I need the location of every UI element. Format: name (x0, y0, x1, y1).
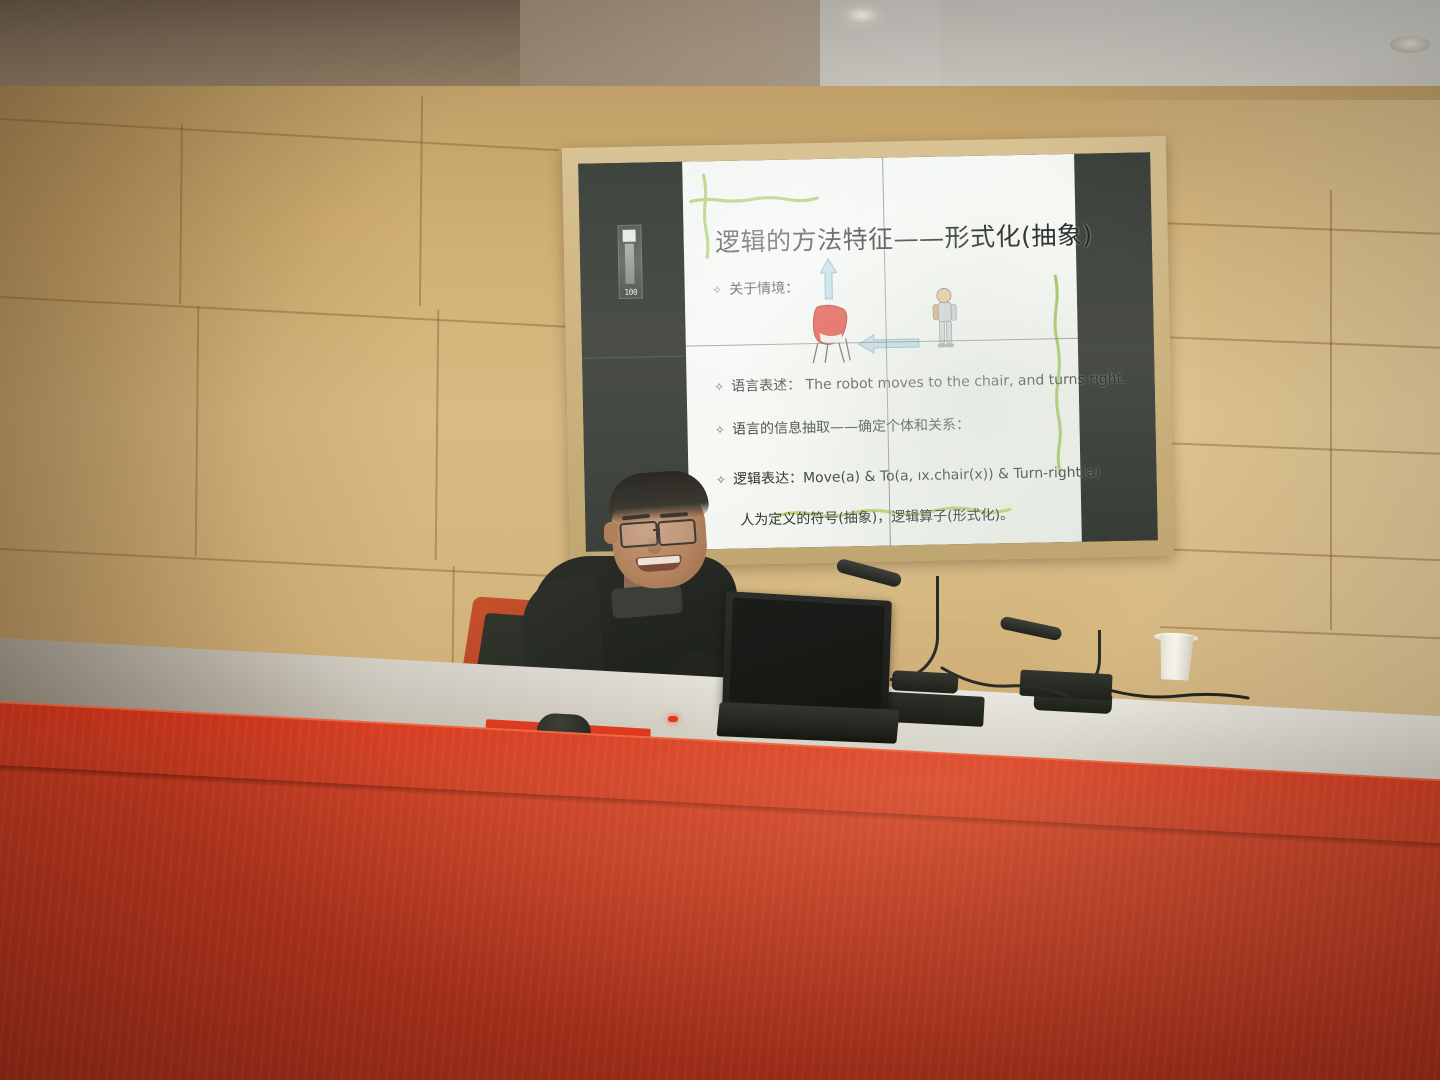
slide-sub-line: 人为定义的符号(抽象)，逻辑算子(形式化)。 (740, 504, 1014, 529)
microphone-base (892, 670, 959, 693)
microphone-right[interactable] (1000, 616, 1120, 716)
screen-bezel-right (1074, 152, 1158, 541)
slide-bullet-3-text: 语言的信息抽取——确定个体和关系： (732, 417, 970, 438)
presenter-nose (648, 536, 661, 554)
slide-bullet-1-text: 关于情境： (729, 281, 799, 298)
bullet-marker-icon: ✧ (715, 423, 725, 437)
presenter-ear (604, 522, 618, 544)
photo-scene: 100 逻辑的方法特征——形式化(抽象) ✧关于情境： (0, 0, 1440, 1080)
bullet-marker-icon: ✧ (714, 380, 724, 394)
laptop-lid (722, 591, 892, 719)
presenter-hair (606, 469, 709, 524)
slide-bullet-2: ✧语言表述： The robot moves to the chair, and… (714, 368, 1127, 396)
presenter-teeth (638, 556, 680, 566)
gauge-label: 100 (620, 288, 642, 297)
slide-bullet-4-text: 逻辑表达：Move(a) & To(a, ıx.chair(x)) & Turn… (733, 465, 1101, 488)
slide-bullet-2-text: 语言表述： The robot moves to the chair, and … (731, 371, 1127, 395)
bullet-marker-icon: ✧ (712, 283, 722, 297)
glasses-bridge (653, 529, 660, 531)
gauge-fill (623, 230, 636, 242)
laptop[interactable] (718, 596, 898, 746)
ceiling-light-icon (845, 8, 879, 24)
wall-seam (1330, 190, 1332, 630)
up-arrow-icon (819, 258, 838, 300)
red-chair-icon (807, 302, 854, 365)
robot-icon (928, 286, 963, 349)
slide-bullet-1: ✧关于情境： (712, 278, 799, 300)
slide-title: 逻辑的方法特征——形式化(抽象) (715, 216, 1061, 259)
gauge-bar (625, 244, 635, 284)
projector-gauge-icon: 100 (617, 225, 642, 299)
laptop-screen (729, 598, 884, 711)
slide-bullet-3: ✧语言的信息抽取——确定个体和关系： (715, 414, 970, 439)
ceiling-light-icon (1390, 36, 1430, 53)
presenter-collar (611, 583, 683, 619)
desk-device-box[interactable] (1019, 670, 1112, 701)
laptop-power-led-icon (668, 716, 678, 722)
bezel-seam (582, 356, 686, 359)
glasses-icon (657, 519, 697, 547)
slide-bullet-4: ✧逻辑表达：Move(a) & To(a, ıx.chair(x)) & Tur… (716, 462, 1101, 490)
laptop-base (716, 702, 899, 743)
